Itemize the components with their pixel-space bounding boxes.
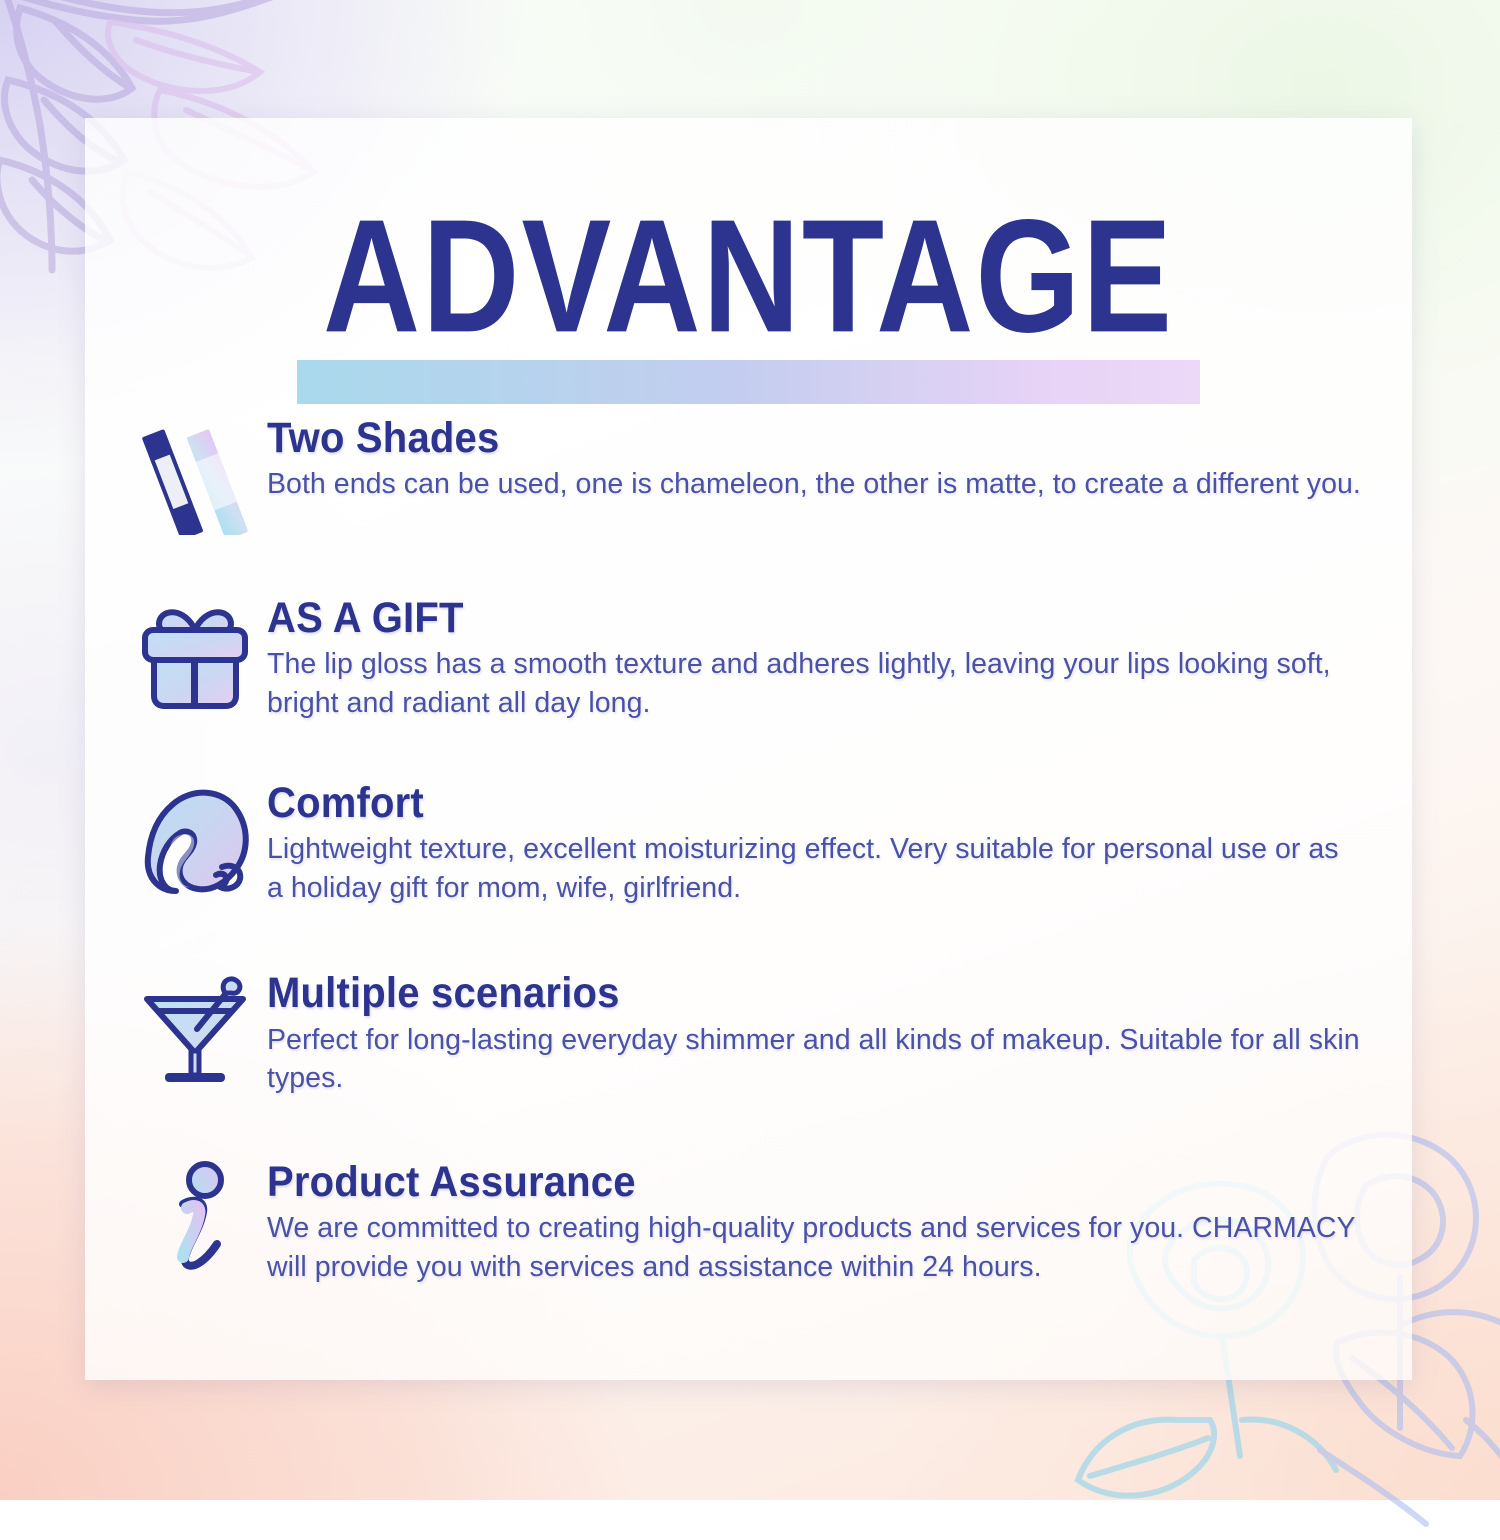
feature-item-comfort: Comfort Lightweight texture, excellent m… [131, 779, 1362, 908]
feature-description: We are committed to creating high-qualit… [267, 1209, 1362, 1287]
advantage-panel: ADVANTAGE [85, 118, 1412, 1380]
feature-text-product-assurance: Product Assurance We are committed to cr… [259, 1158, 1362, 1287]
woman-profile-icon [131, 779, 259, 903]
feature-description: Both ends can be used, one is chameleon,… [267, 465, 1362, 504]
feature-item-multiple-scenarios: Multiple scenarios Perfect for long-last… [131, 969, 1362, 1098]
feature-description: The lip gloss has a smooth texture and a… [267, 645, 1362, 723]
feature-title: Comfort [267, 781, 1362, 827]
gift-box-icon [131, 594, 259, 718]
feature-title: Product Assurance [267, 1160, 1362, 1206]
feature-text-multiple-scenarios: Multiple scenarios Perfect for long-last… [259, 969, 1362, 1098]
page-title-block: ADVANTAGE [85, 196, 1412, 336]
feature-item-as-a-gift: AS A GIFT The lip gloss has a smooth tex… [131, 594, 1362, 723]
feature-text-as-a-gift: AS A GIFT The lip gloss has a smooth tex… [259, 594, 1362, 723]
feature-list: Two Shades Both ends can be used, one is… [85, 414, 1412, 1287]
feature-item-product-assurance: Product Assurance We are committed to cr… [131, 1158, 1362, 1287]
feature-title: Two Shades [267, 416, 1362, 462]
feature-description: Lightweight texture, excellent moisturiz… [267, 830, 1362, 908]
feature-title: AS A GIFT [267, 596, 1362, 642]
info-letter-i-icon [131, 1158, 259, 1282]
title-highlight-bar [297, 360, 1200, 404]
feature-title: Multiple scenarios [267, 971, 1362, 1017]
feature-text-two-shades: Two Shades Both ends can be used, one is… [259, 414, 1362, 504]
feature-description: Perfect for long-lasting everyday shimme… [267, 1021, 1362, 1099]
crossed-lipsticks-icon [131, 414, 259, 538]
page-title: ADVANTAGE [72, 196, 1426, 357]
cocktail-glass-icon [131, 969, 259, 1093]
feature-item-two-shades: Two Shades Both ends can be used, one is… [131, 414, 1362, 538]
feature-text-comfort: Comfort Lightweight texture, excellent m… [259, 779, 1362, 908]
